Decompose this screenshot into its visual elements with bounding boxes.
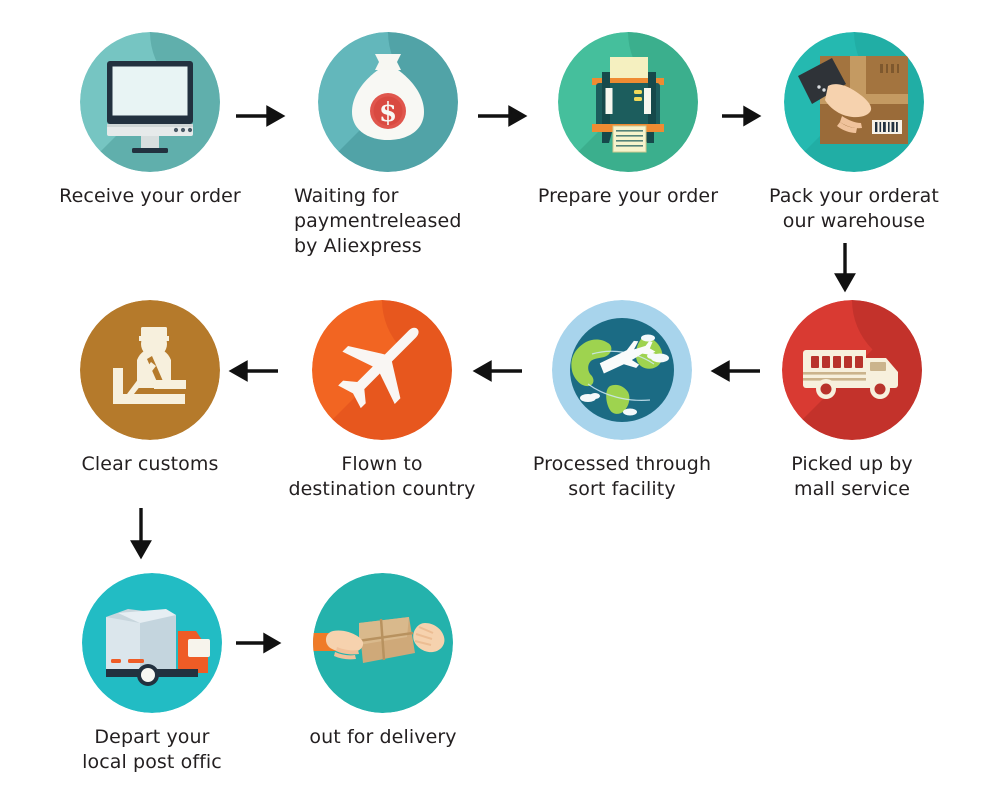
airplane-icon (312, 300, 452, 440)
step-out-for-delivery[interactable]: out for delivery (283, 573, 483, 750)
step-label: Depart your local post offic (82, 725, 222, 775)
svg-text:$: $ (379, 98, 397, 128)
step-label: Flown to destination country (288, 452, 475, 502)
arrow-right-prepare-to-pack (722, 103, 762, 129)
step-label: Picked up by mall service (791, 452, 913, 502)
arrow-down-customs-to-depart (128, 508, 154, 560)
money-bag-icon: $ (318, 32, 458, 172)
step-label: Prepare your order (538, 184, 718, 209)
step-pack-your-order[interactable]: Pack your orderat our warehouse (754, 32, 954, 234)
arrow-right-receive-to-waiting (236, 103, 286, 129)
step-receive-your-order[interactable]: Receive your order (50, 32, 250, 209)
process-flow-diagram: Receive your order $ Waiting for payment… (0, 0, 1000, 795)
customs-officer-icon (80, 300, 220, 440)
step-waiting-for-payment[interactable]: $ Waiting for paymentreleased by Aliexpr… (288, 32, 488, 259)
step-depart-your-local-post-office[interactable]: Depart your local post offic (52, 573, 252, 775)
step-label: Clear customs (82, 452, 219, 477)
printer-icon (558, 32, 698, 172)
step-label: Receive your order (59, 184, 241, 209)
arrow-right-waiting-to-prepare (478, 103, 528, 129)
step-label: out for delivery (309, 725, 456, 750)
step-label: Processed through sort facility (533, 452, 711, 502)
step-picked-up-by-mall-service[interactable]: Picked up by mall service (752, 300, 952, 502)
bus-icon (782, 300, 922, 440)
step-label: Pack your orderat our warehouse (769, 184, 939, 234)
hands-delivering-box-icon (313, 573, 453, 713)
arrow-left-processed-to-flown (472, 358, 522, 384)
delivery-truck-icon (82, 573, 222, 713)
step-label: Waiting for paymentreleased by Aliexpres… (288, 184, 461, 259)
step-clear-customs[interactable]: Clear customs (50, 300, 250, 477)
arrow-left-picked-to-processed (710, 358, 760, 384)
arrow-right-depart-to-out (236, 630, 284, 656)
desktop-monitor-icon (80, 32, 220, 172)
arrow-down-pack-to-picked (832, 243, 858, 293)
step-flown-to-destination-country[interactable]: Flown to destination country (282, 300, 482, 502)
hands-packing-box-icon (784, 32, 924, 172)
step-prepare-your-order[interactable]: Prepare your order (528, 32, 728, 209)
step-processed-through-sort-facility[interactable]: Processed through sort facility (522, 300, 722, 502)
globe-airplane-icon (552, 300, 692, 440)
arrow-left-flown-to-customs (228, 358, 278, 384)
